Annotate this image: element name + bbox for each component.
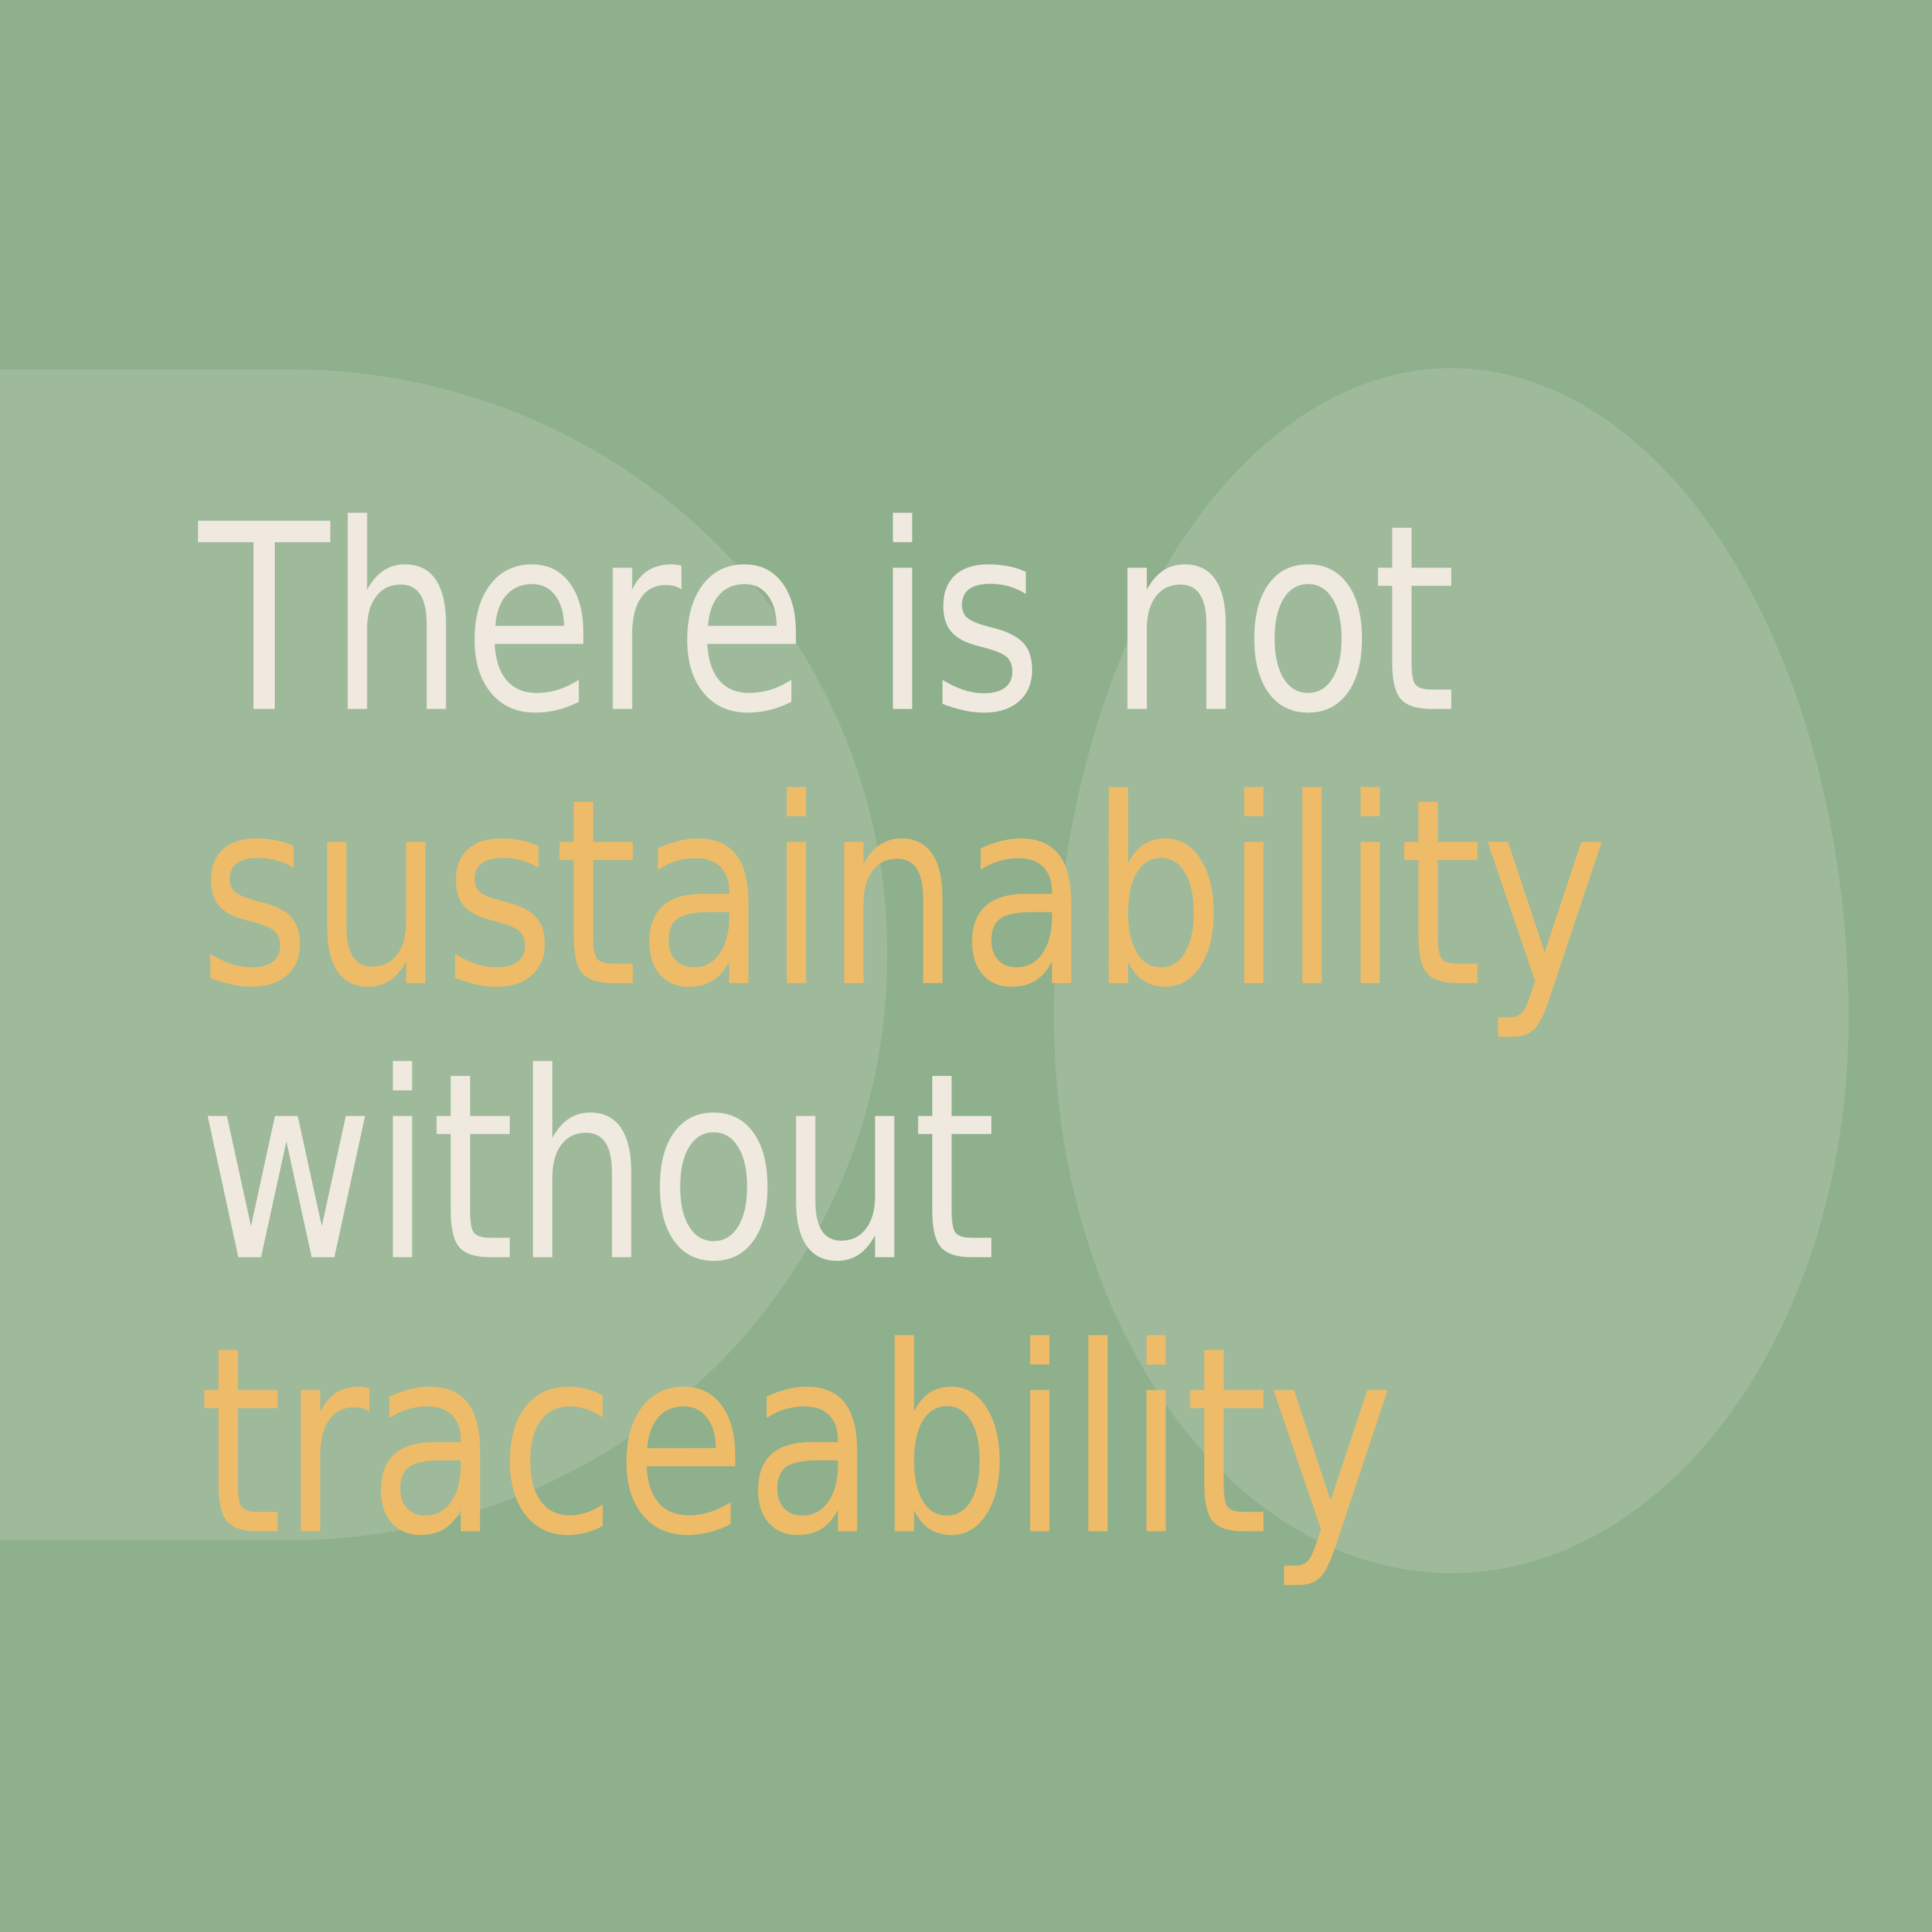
headline-line-4-text: traceability — [199, 1265, 1392, 1621]
headline: There is notsustainabilitywithouttraceab… — [199, 555, 1788, 1651]
poster-canvas: There is notsustainabilitywithouttraceab… — [0, 0, 1932, 1932]
headline-line-4: traceability — [199, 1377, 1788, 1651]
